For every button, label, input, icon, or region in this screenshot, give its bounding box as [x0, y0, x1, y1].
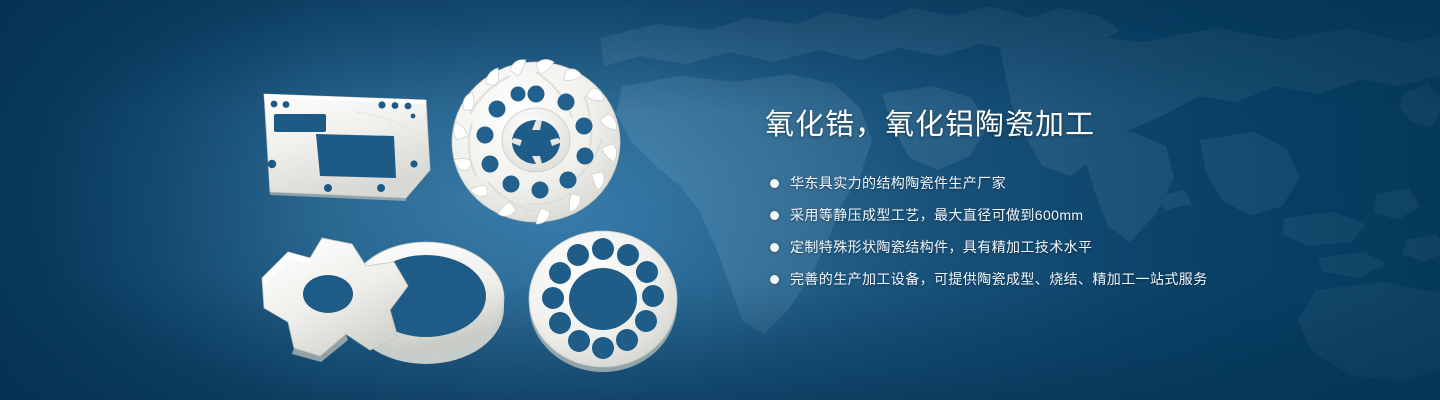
- ceramic-processing-banner: 氧化锆，氧化铝陶瓷加工 华东具实力的结构陶瓷件生产厂家 采用等静压成型工艺，最大…: [0, 0, 1440, 400]
- marketing-copy-block: 氧化锆，氧化铝陶瓷加工 华东具实力的结构陶瓷件生产厂家 采用等静压成型工艺，最大…: [765, 104, 1325, 300]
- bullet-text: 完善的生产加工设备，可提供陶瓷成型、烧结、精加工一站式服务: [790, 268, 1208, 290]
- bullet-text: 采用等静压成型工艺，最大直径可做到600mm: [790, 204, 1083, 226]
- list-item: 华东具实力的结构陶瓷件生产厂家: [770, 172, 1325, 194]
- bullet-dot-icon: [770, 179, 779, 188]
- page-title: 氧化锆，氧化铝陶瓷加工: [765, 104, 1325, 146]
- list-item: 采用等静压成型工艺，最大直径可做到600mm: [770, 204, 1325, 226]
- list-item: 定制特殊形状陶瓷结构件，具有精加工技术水平: [770, 236, 1325, 258]
- bullet-dot-icon: [770, 211, 779, 220]
- bullet-text: 华东具实力的结构陶瓷件生产厂家: [790, 172, 1006, 194]
- ceramic-impeller-disc-image: [444, 48, 628, 230]
- feature-bullet-list: 华东具实力的结构陶瓷件生产厂家 采用等静压成型工艺，最大直径可做到600mm 定…: [770, 172, 1325, 290]
- list-item: 完善的生产加工设备，可提供陶瓷成型、烧结、精加工一站式服务: [770, 268, 1325, 290]
- ceramic-cross-and-ring-image: [248, 226, 520, 372]
- bullet-dot-icon: [770, 275, 779, 284]
- bullet-text: 定制特殊形状陶瓷结构件，具有精加工技术水平: [790, 236, 1092, 258]
- ceramic-perforated-disc-image: [522, 224, 684, 374]
- ceramic-machined-plate-image: [248, 78, 444, 214]
- bullet-dot-icon: [770, 243, 779, 252]
- product-photo-cluster: [0, 0, 720, 400]
